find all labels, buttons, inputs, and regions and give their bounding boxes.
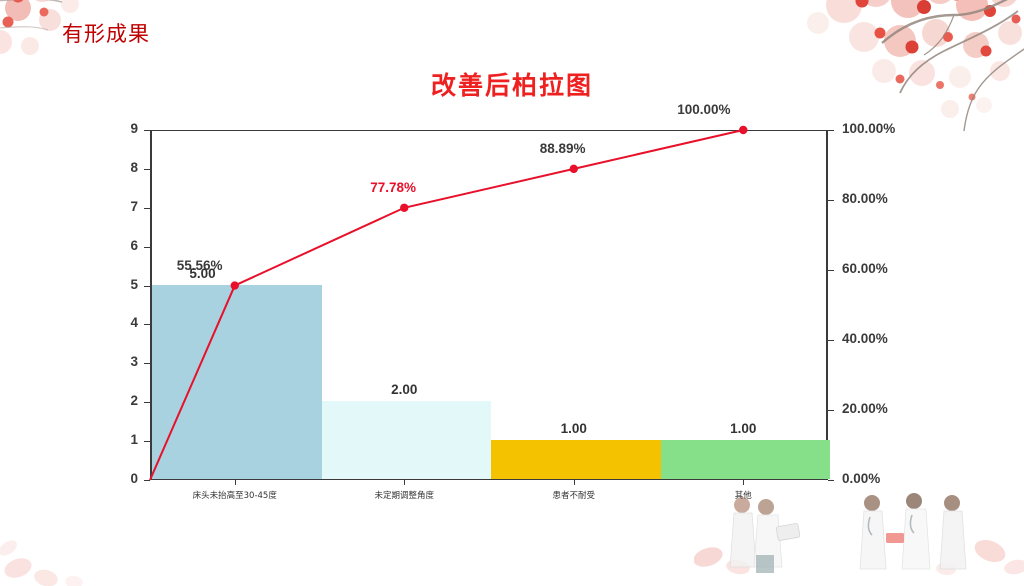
chart-title: 改善后柏拉图 bbox=[0, 66, 1024, 102]
line-marker-3 bbox=[570, 165, 578, 173]
cumulative-percent-line bbox=[0, 100, 1024, 520]
percent-label-2: 77.78% bbox=[370, 180, 416, 195]
cumulative-line-path bbox=[150, 130, 743, 480]
percent-label-4: 100.00% bbox=[677, 102, 730, 117]
percent-label-1: 55.56% bbox=[177, 258, 223, 273]
percent-label-3: 88.89% bbox=[540, 141, 586, 156]
line-marker-1 bbox=[231, 281, 239, 289]
line-marker-2 bbox=[400, 204, 408, 212]
section-title: 有形成果 bbox=[62, 18, 150, 48]
line-marker-4 bbox=[739, 126, 747, 134]
pareto-chart: 0123456789 0.00%20.00%40.00%60.00%80.00%… bbox=[0, 100, 1024, 520]
